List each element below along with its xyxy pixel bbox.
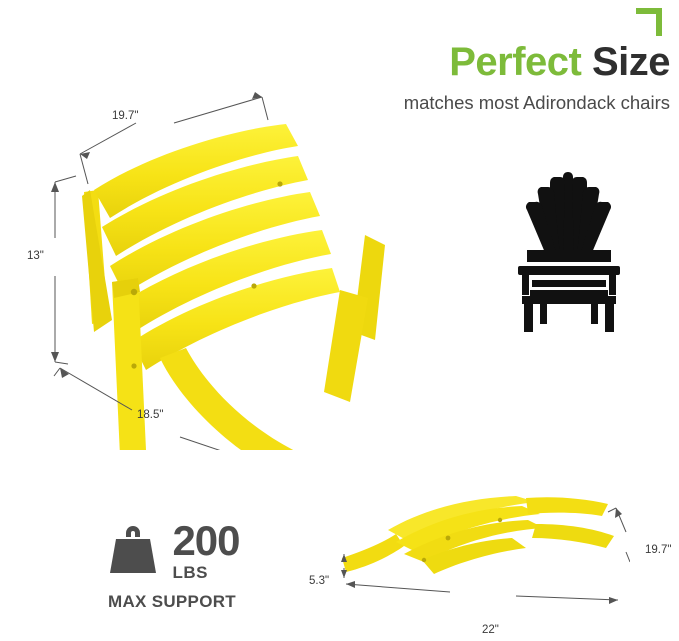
corner-bracket-vertical (656, 8, 662, 36)
dimension-label-width-top: 19.7" (112, 110, 138, 122)
dimension-label-folded-height: 5.3" (309, 575, 329, 587)
max-support-badge: 200 LBS MAX SUPPORT (72, 512, 272, 630)
folded-product-image (330, 480, 630, 610)
weight-icon (104, 521, 162, 579)
badge-number: 200 (172, 520, 239, 562)
adirondack-chair-icon (510, 168, 630, 338)
badge-row: 200 LBS (72, 512, 272, 588)
dimension-label-depth-bottom: 18.5" (137, 409, 163, 421)
badge-unit: LBS (172, 564, 208, 581)
dimension-label-height-left: 13" (27, 250, 44, 262)
main-product-image (40, 80, 400, 450)
page-title-accent: Perfect (449, 40, 581, 84)
badge-weight: 200 LBS (172, 520, 239, 581)
corner-bracket-icon (636, 8, 662, 36)
badge-caption: MAX SUPPORT (72, 592, 272, 612)
dimension-label-folded-depth: 19.7" (645, 544, 671, 556)
dimension-label-folded-width: 22" (482, 624, 499, 636)
product-infographic-page: Perfect Size matches most Adirondack cha… (0, 0, 679, 641)
page-title: Perfect Size (318, 42, 670, 82)
page-title-rest: Size (581, 40, 670, 84)
